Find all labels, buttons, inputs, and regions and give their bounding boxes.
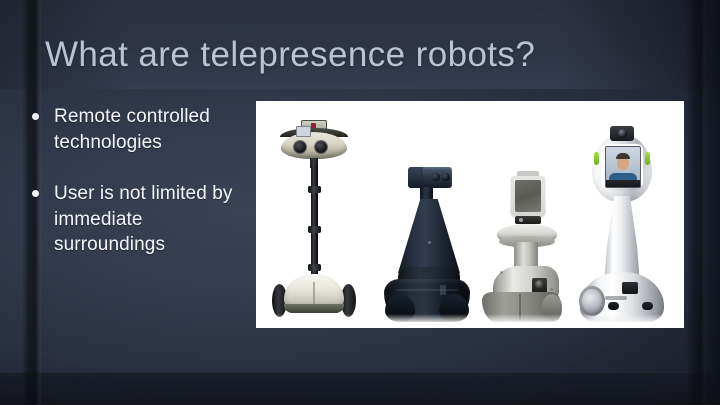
robot4-camera-icon xyxy=(610,126,634,141)
robot2-lens-left-icon xyxy=(432,173,440,181)
robot1-base-skirt xyxy=(284,304,344,313)
list-item: Remote controlled technologies xyxy=(32,104,247,155)
robot1-pole-joint xyxy=(308,226,321,233)
photo-stage xyxy=(256,101,684,328)
robot1-pole-joint xyxy=(308,264,321,271)
robot4-accent-left xyxy=(594,152,599,165)
robot4-display xyxy=(605,146,641,188)
robot2-lens-right-icon xyxy=(442,173,450,181)
robot-white-curved xyxy=(574,126,670,322)
bullet-dot-icon xyxy=(32,190,39,197)
photo-ground-fade xyxy=(256,314,684,328)
robot2-neck xyxy=(420,187,433,201)
robot-dark-cone xyxy=(382,167,472,322)
robot2-camera-head xyxy=(408,167,452,188)
robot1-pole xyxy=(311,166,318,278)
robot2-cone-torso xyxy=(398,199,460,273)
bullet-list: Remote controlled technologies User is n… xyxy=(32,104,247,258)
page-title: What are telepresence robots? xyxy=(45,34,535,76)
slide-canvas: What are telepresence robots? Remote con… xyxy=(0,0,720,405)
list-item: User is not limited by immediate surroun… xyxy=(32,181,247,258)
robot1-head xyxy=(281,132,347,159)
robot4-neck-stalk xyxy=(604,196,640,284)
robot-pole-mounted-camera xyxy=(272,114,356,322)
robot3-hinge xyxy=(515,216,541,224)
robot1-badge xyxy=(296,126,311,137)
robot1-lens-left-icon xyxy=(294,141,306,153)
bullet-text: User is not limited by immediate surroun… xyxy=(54,181,247,258)
robot-photo xyxy=(256,101,684,328)
robot-gray-tablet xyxy=(468,174,564,322)
robot4-wheel xyxy=(579,286,605,316)
robot3-display xyxy=(511,176,545,216)
robot4-accent-right xyxy=(645,152,650,165)
bullet-text: Remote controlled technologies xyxy=(54,104,247,155)
robot1-lens-right-icon xyxy=(315,141,327,153)
robot1-pole-joint xyxy=(308,186,321,193)
bullet-dot-icon xyxy=(32,113,39,120)
